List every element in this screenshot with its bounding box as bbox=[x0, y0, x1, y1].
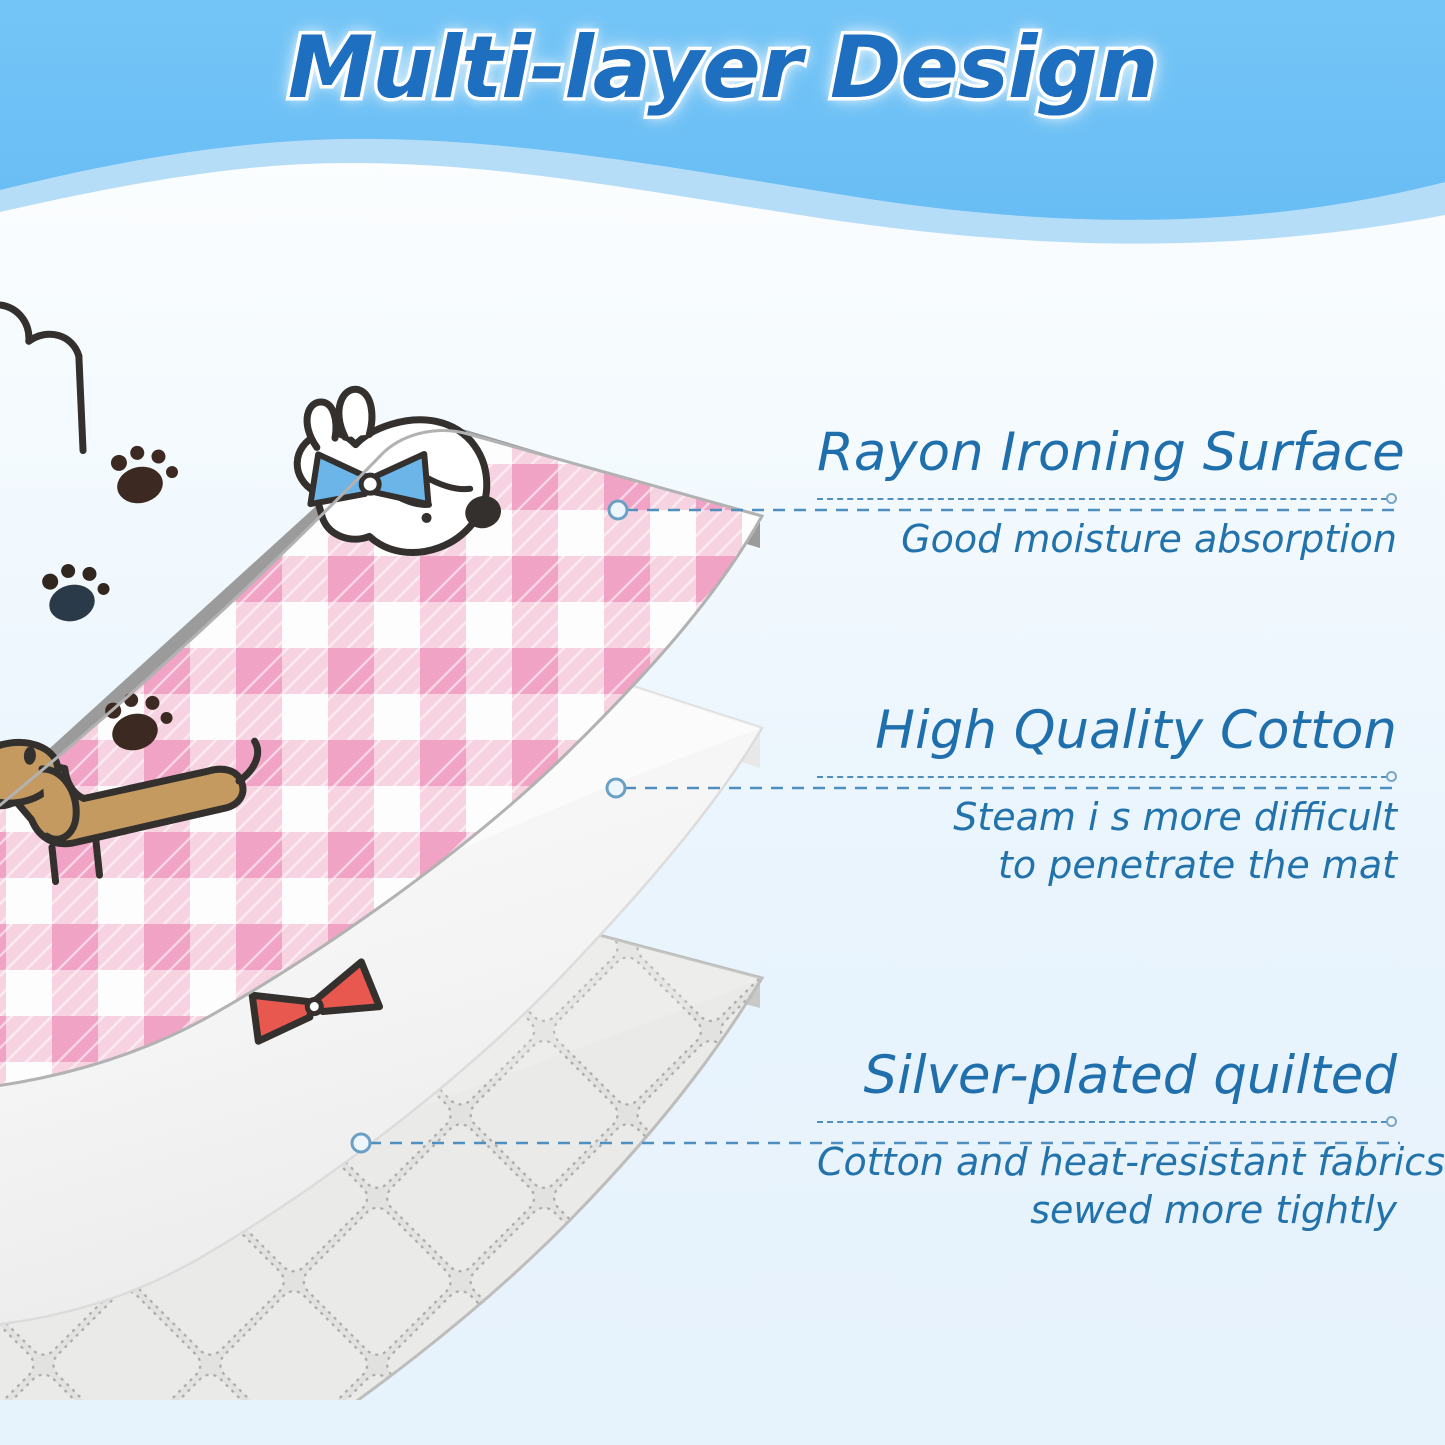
divider-end-dot-icon bbox=[1386, 493, 1397, 504]
dog-partial-icon bbox=[0, 285, 104, 480]
divider-end-dot-icon bbox=[1386, 1116, 1397, 1127]
feature-divider bbox=[817, 771, 1397, 783]
page-title: Multi-layer Design bbox=[0, 18, 1445, 118]
feature-subtext-line: Good moisture absorption bbox=[817, 515, 1397, 564]
feature-subtext-line: Cotton and heat-resistant fabrics bbox=[817, 1138, 1397, 1187]
paw-print-icon bbox=[39, 555, 115, 626]
divider-dashed-line bbox=[817, 1121, 1387, 1123]
feature-subtext: Cotton and heat-resistant fabrics sewed … bbox=[817, 1138, 1397, 1235]
feature-subtext-line: to penetrate the mat bbox=[817, 841, 1397, 890]
feature-heading: Silver-plated quilted bbox=[817, 1048, 1397, 1104]
feature-subtext-line: sewed more tightly bbox=[817, 1186, 1397, 1235]
infographic-page: Multi-layer Design Multi-layer Design bbox=[0, 0, 1445, 1445]
feature-subtext-line: Steam i s more difficult bbox=[817, 793, 1397, 842]
divider-dashed-line bbox=[817, 498, 1387, 500]
feature-block-rayon-ironing-surface: Rayon Ironing Surface Good moisture abso… bbox=[817, 425, 1397, 563]
feature-heading: High Quality Cotton bbox=[817, 703, 1397, 759]
feature-block-high-quality-cotton: High Quality Cotton Steam i s more diffi… bbox=[817, 703, 1397, 890]
feature-subtext: Good moisture absorption bbox=[817, 515, 1397, 564]
divider-dashed-line bbox=[817, 776, 1387, 778]
product-illustration bbox=[0, 280, 820, 1400]
divider-end-dot-icon bbox=[1386, 771, 1397, 782]
feature-block-silver-plated-quilted: Silver-plated quilted Cotton and heat-re… bbox=[817, 1048, 1397, 1235]
feature-divider bbox=[817, 493, 1397, 505]
feature-divider bbox=[817, 1116, 1397, 1128]
paw-print-icon bbox=[108, 439, 182, 508]
feature-subtext: Steam i s more difficult to penetrate th… bbox=[817, 793, 1397, 890]
feature-heading: Rayon Ironing Surface bbox=[817, 425, 1397, 481]
